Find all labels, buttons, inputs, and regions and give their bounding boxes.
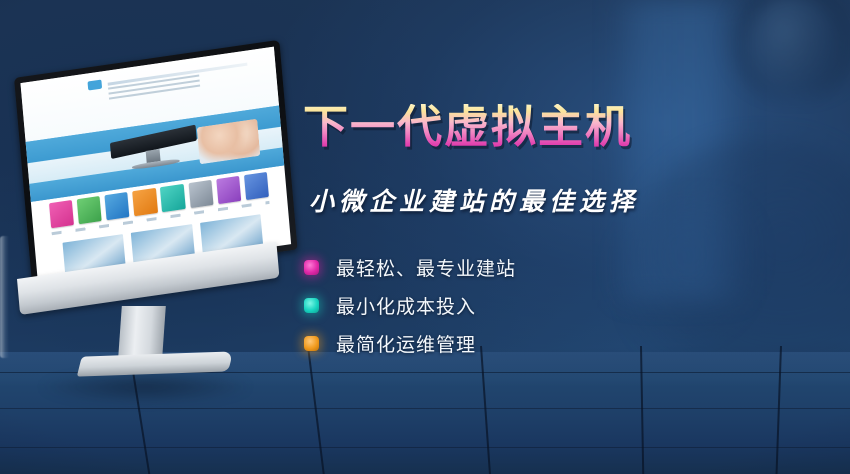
site-icon-8 — [244, 172, 269, 201]
feature-label: 最小化成本投入 — [336, 292, 476, 319]
headline: 下一代虚拟主机 — [303, 104, 632, 149]
bullet-marker-icon — [304, 260, 319, 275]
site-icon-6 — [188, 180, 213, 209]
website-logo — [87, 80, 102, 91]
imac-drop-shadow — [38, 370, 253, 404]
bullet-marker-icon — [304, 298, 319, 313]
promo-banner: 下一代虚拟主机 小微企业建站的最佳选择 最轻松、最专业建站 最小化成本投入 最简… — [0, 0, 850, 474]
feature-item: 最轻松、最专业建站 — [304, 248, 516, 286]
floor-gridline-horizontal — [0, 447, 850, 448]
imac-stand-neck — [118, 306, 166, 358]
imac-product-shot — [8, 78, 308, 408]
subheadline: 小微企业建站的最佳选择 — [309, 182, 639, 218]
person-arm-shape — [608, 200, 758, 340]
feature-label: 最轻松、最专业建站 — [336, 254, 516, 281]
site-icon-5 — [160, 184, 185, 213]
feature-item: 最小化成本投入 — [304, 286, 516, 324]
bullet-marker-icon — [304, 336, 319, 351]
site-icon-3 — [105, 192, 130, 221]
floor-gridline-horizontal — [0, 408, 850, 409]
feature-item: 最简化运维管理 — [304, 324, 516, 362]
site-icon-7 — [216, 176, 241, 205]
feature-label: 最简化运维管理 — [336, 330, 476, 357]
site-icon-2 — [77, 196, 102, 225]
site-icon-1 — [49, 200, 74, 229]
site-icon-4 — [132, 188, 157, 217]
feature-list: 最轻松、最专业建站 最小化成本投入 最简化运维管理 — [304, 248, 516, 362]
